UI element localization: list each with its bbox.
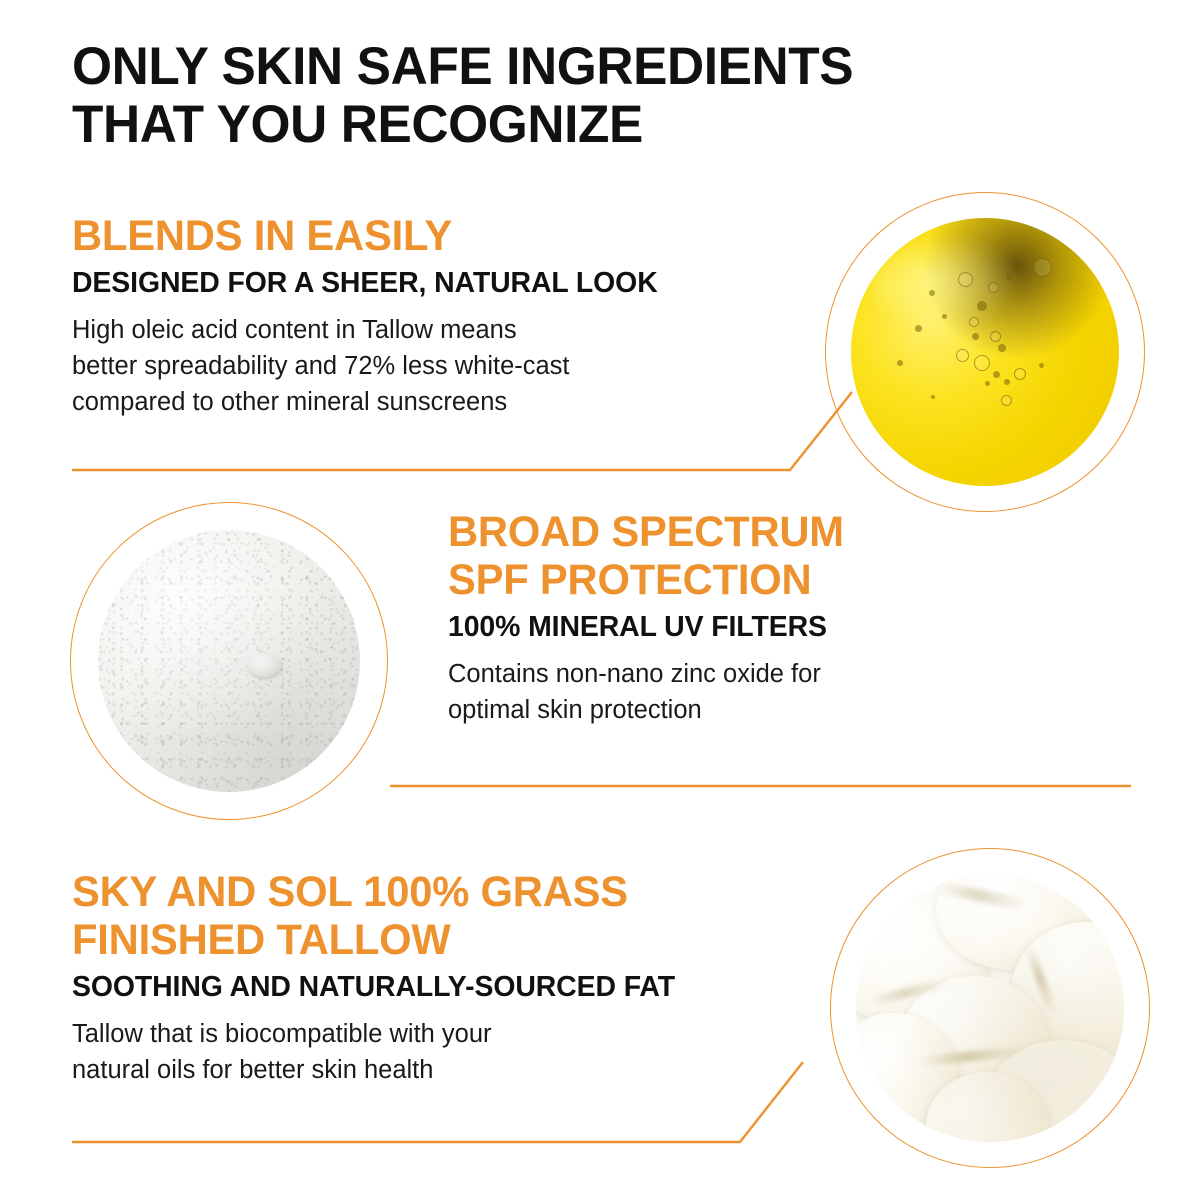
section-1-body-line-2: better spreadability and 72% less white-…	[72, 348, 792, 384]
section-2-heading-line-1: BROAD SPECTRUM	[448, 508, 1127, 556]
section-2-body: Contains non-nano zinc oxide for optimal…	[448, 656, 1148, 728]
zinc-oxide-powder-photo	[98, 530, 360, 792]
section-1-body: High oleic acid content in Tallow means …	[72, 312, 792, 420]
page-title-line-1: ONLY SKIN SAFE INGREDIENTS	[72, 38, 1042, 96]
oil-bubble	[985, 381, 990, 386]
oil-bubble	[972, 333, 979, 340]
oil-bubble	[993, 371, 1000, 378]
oil-bubble	[958, 272, 973, 287]
tallow-shading	[856, 874, 1124, 1142]
section-2-body-line-2: optimal skin protection	[448, 692, 1148, 728]
powder-shading	[98, 530, 360, 792]
section-2-heading: BROAD SPECTRUM SPF PROTECTION	[448, 508, 1127, 604]
section-3-subheading: SOOTHING AND NATURALLY-SOURCED FAT	[72, 970, 836, 1004]
oil-bubble	[1001, 395, 1012, 406]
section-1-heading-line-1: BLENDS IN EASILY	[72, 212, 770, 260]
section-3-body-line-2: natural oils for better skin health	[72, 1052, 852, 1088]
oil-bubble	[1014, 368, 1026, 380]
page-title: ONLY SKIN SAFE INGREDIENTS THAT YOU RECO…	[72, 38, 1042, 154]
section-1-heading: BLENDS IN EASILY	[72, 212, 770, 260]
oil-bubble	[915, 325, 922, 332]
oil-bubble	[990, 331, 1001, 342]
oil-bubble	[974, 355, 990, 371]
section-3-heading-line-1: SKY AND SOL 100% GRASS	[72, 868, 829, 916]
oil-bubble	[1004, 379, 1010, 385]
section-3-heading: SKY AND SOL 100% GRASS FINISHED TALLOW	[72, 868, 829, 964]
oil-bubble	[988, 282, 999, 293]
oil-bubble	[969, 317, 979, 327]
section-1-subheading: DESIGNED FOR A SHEER, NATURAL LOOK	[72, 266, 778, 300]
section-1-body-line-3: compared to other mineral sunscreens	[72, 384, 792, 420]
oil-bubble	[998, 344, 1006, 352]
section-2-heading-line-2: SPF PROTECTION	[448, 556, 1127, 604]
section-2-subheading: 100% MINERAL UV FILTERS	[448, 610, 1134, 644]
oil-bubble	[977, 301, 987, 311]
section-broad-spectrum-spf-protection: BROAD SPECTRUM SPF PROTECTION 100% MINER…	[448, 508, 1148, 728]
section-1-body-line-1: High oleic acid content in Tallow means	[72, 312, 792, 348]
section-3-body-line-1: Tallow that is biocompatible with your	[72, 1016, 852, 1052]
oil-droplet-photo	[851, 218, 1119, 486]
infographic-page: ONLY SKIN SAFE INGREDIENTS THAT YOU RECO…	[0, 0, 1200, 1200]
oil-bubble	[1039, 363, 1044, 368]
page-title-line-2: THAT YOU RECOGNIZE	[72, 96, 1042, 154]
oil-bubble	[931, 395, 935, 399]
oil-bubble	[897, 360, 903, 366]
section-3-heading-line-2: FINISHED TALLOW	[72, 916, 829, 964]
section-2-body-line-1: Contains non-nano zinc oxide for	[448, 656, 1148, 692]
section-sky-and-sol-grass-finished-tallow: SKY AND SOL 100% GRASS FINISHED TALLOW S…	[72, 868, 852, 1088]
oil-bubble	[956, 349, 969, 362]
section-3-body: Tallow that is biocompatible with your n…	[72, 1016, 852, 1088]
section-blends-in-easily: BLENDS IN EASILY DESIGNED FOR A SHEER, N…	[72, 212, 792, 420]
tallow-photo	[856, 874, 1124, 1142]
